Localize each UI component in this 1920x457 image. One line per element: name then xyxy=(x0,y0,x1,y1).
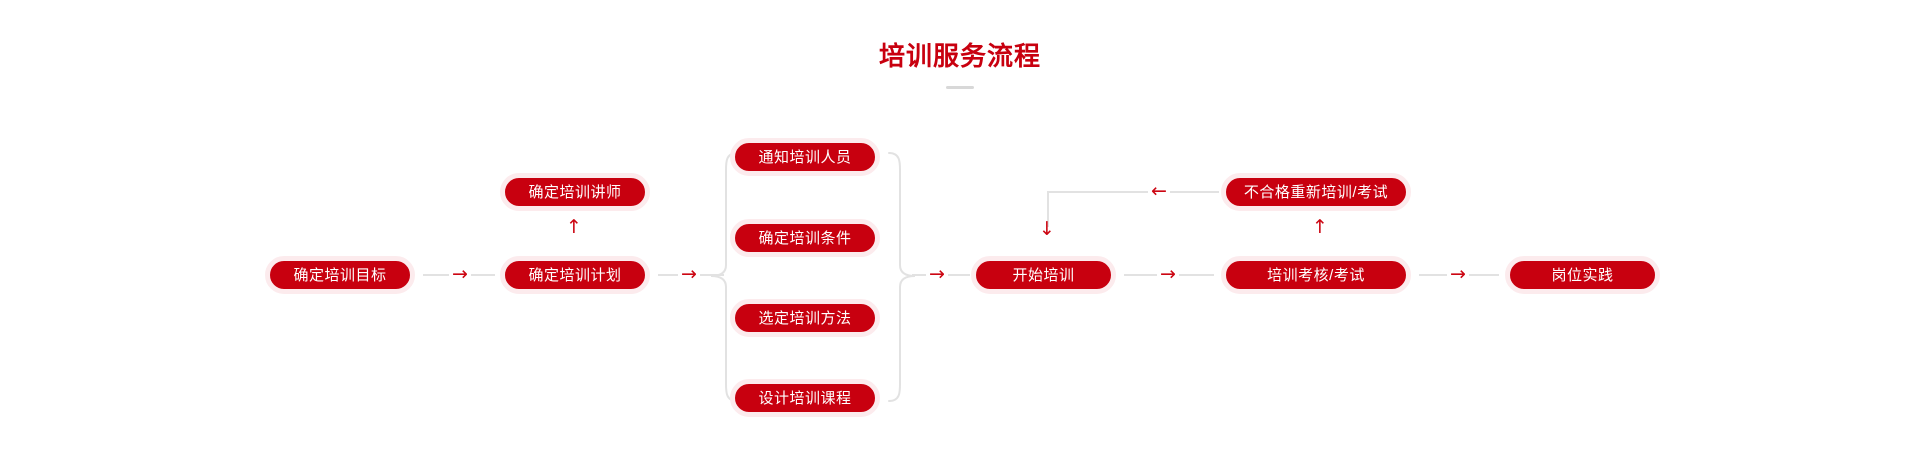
node-label: 不合格重新培训/考试 xyxy=(1244,185,1388,200)
arrow-right-icon: → xyxy=(1447,265,1469,284)
node-label: 确定培训目标 xyxy=(293,268,386,283)
node-notify-trainees[interactable]: 通知培训人员 xyxy=(730,138,880,176)
arrow-right-icon: → xyxy=(926,265,948,284)
arrow-down-icon: ↓ xyxy=(1039,220,1055,239)
node-on-the-job-practice[interactable]: 岗位实践 xyxy=(1505,256,1660,294)
node-determine-training-goal[interactable]: 确定培训目标 xyxy=(265,256,415,294)
node-label: 岗位实践 xyxy=(1551,268,1613,283)
node-label: 确定培训讲师 xyxy=(528,185,621,200)
arrow-up-icon: ↑ xyxy=(1312,218,1328,237)
left-brace-bracket xyxy=(710,152,738,402)
node-label: 设计培训课程 xyxy=(758,391,851,406)
node-training-assessment-exam[interactable]: 培训考核/考试 xyxy=(1221,256,1411,294)
page-title-block: 培训服务流程 xyxy=(0,40,1920,89)
node-select-training-method[interactable]: 选定培训方法 xyxy=(730,299,880,337)
node-label: 选定培训方法 xyxy=(758,311,851,326)
page-title: 培训服务流程 xyxy=(0,40,1920,72)
node-determine-training-plan[interactable]: 确定培训计划 xyxy=(500,256,650,294)
node-determine-training-conditions[interactable]: 确定培训条件 xyxy=(730,219,880,257)
node-label: 确定培训条件 xyxy=(758,231,851,246)
node-fail-retrain-retest[interactable]: 不合格重新培训/考试 xyxy=(1221,173,1411,211)
flowchart-canvas: 培训服务流程 确定培训目标 → 确定培训计划 确定培训讲师 ↑ → 通知培训人员… xyxy=(0,0,1920,457)
node-label: 开始培训 xyxy=(1012,268,1074,283)
title-divider xyxy=(946,86,974,89)
node-label: 确定培训计划 xyxy=(528,268,621,283)
arrow-right-icon: → xyxy=(449,265,471,284)
node-determine-training-instructor[interactable]: 确定培训讲师 xyxy=(500,173,650,211)
node-label: 培训考核/考试 xyxy=(1267,268,1365,283)
arrow-up-icon: ↑ xyxy=(566,218,582,237)
connector-retrain-feedback-horizontal xyxy=(1047,191,1219,193)
node-design-training-course[interactable]: 设计培训课程 xyxy=(730,379,880,417)
arrow-right-icon: → xyxy=(678,265,700,284)
node-label: 通知培训人员 xyxy=(758,150,851,165)
arrow-right-icon: → xyxy=(1157,265,1179,284)
right-brace-bracket xyxy=(888,152,916,402)
arrow-left-icon: ← xyxy=(1148,182,1170,201)
node-start-training[interactable]: 开始培训 xyxy=(971,256,1116,294)
